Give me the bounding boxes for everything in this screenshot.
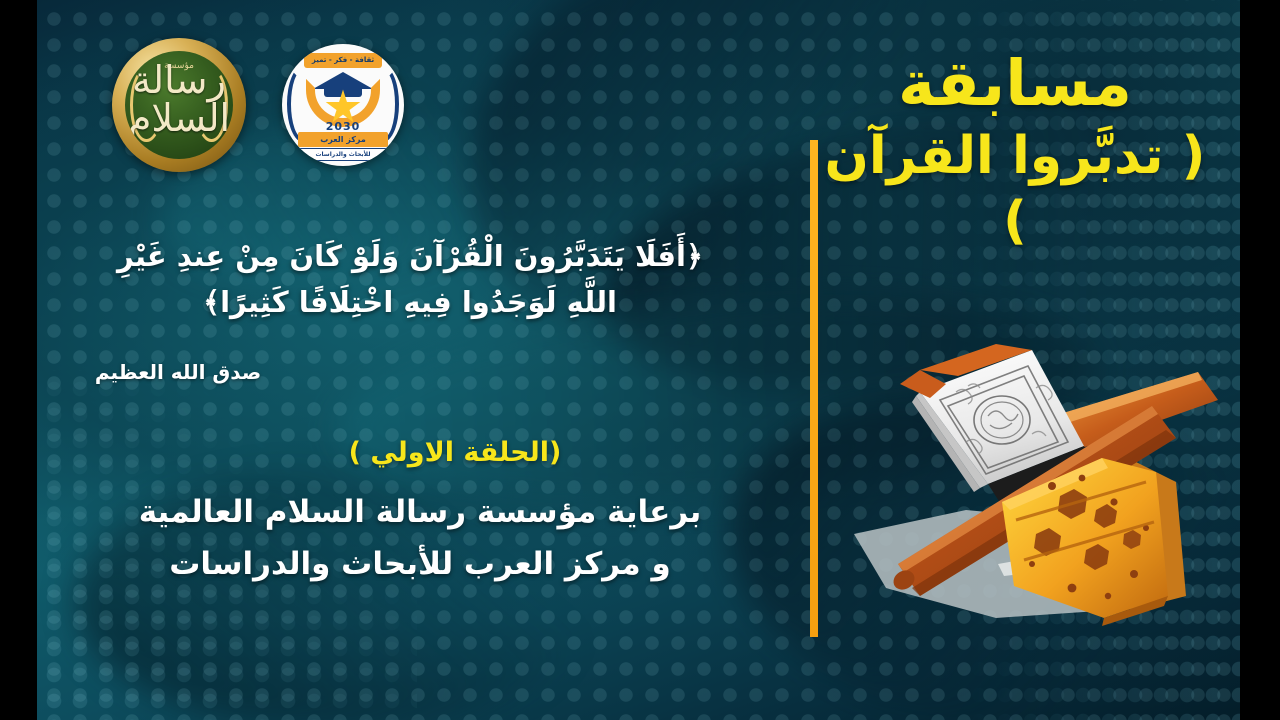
- sponsor-line-1: برعاية مؤسسة رسالة السلام العالمية: [70, 486, 770, 538]
- letterbox-bar-right: [1240, 0, 1280, 720]
- quran-on-rehal-illustration: [846, 296, 1246, 656]
- logo-top-banner: ثقافة - فكر - تميز: [304, 53, 382, 68]
- title-line-1: مسابقة: [805, 50, 1225, 118]
- poster-title: مسابقة ( تدبَّروا القرآن ): [805, 50, 1225, 254]
- logo-name-banner: مركز العرب: [298, 132, 388, 147]
- quran-verse: ﴿أَفَلَا يَتَدَبَّرُونَ الْقُرْآنَ وَلَو…: [60, 234, 760, 326]
- letterbox-bar-left: [0, 0, 37, 720]
- sponsor-line-2: و مركز العرب للأبحاث والدراسات: [70, 538, 770, 590]
- sponsor-block: برعاية مؤسسة رسالة السلام العالمية و مرك…: [70, 486, 770, 590]
- logo-inner-disc: مؤسسة رسالة السلام: [125, 51, 233, 159]
- logo-year: 2030: [282, 120, 404, 133]
- title-line-2: ( تدبَّروا القرآن ): [805, 124, 1225, 254]
- logo-calligraphy: رسالة السلام: [125, 61, 233, 137]
- arab-center-logo: ثقافة - فكر - تميز 2030 مركز العرب للأبح…: [282, 44, 404, 166]
- verse-attestation: صدق الله العظيم: [78, 360, 278, 384]
- poster-canvas: مؤسسة رسالة السلام ثقافة - فكر - تميز 20…: [0, 0, 1280, 720]
- verse-line-2: اللَّهِ لَوَجَدُوا فِيهِ اخْتِلَافًا كَث…: [60, 280, 760, 326]
- verse-line-1: ﴿أَفَلَا يَتَدَبَّرُونَ الْقُرْآنَ وَلَو…: [60, 234, 760, 280]
- logo-subtitle-ribbon: للأبحاث والدراسات: [297, 148, 390, 161]
- episode-label: (الحلقة الاولي ): [180, 437, 730, 468]
- risalat-alsalam-logo: مؤسسة رسالة السلام: [112, 38, 246, 172]
